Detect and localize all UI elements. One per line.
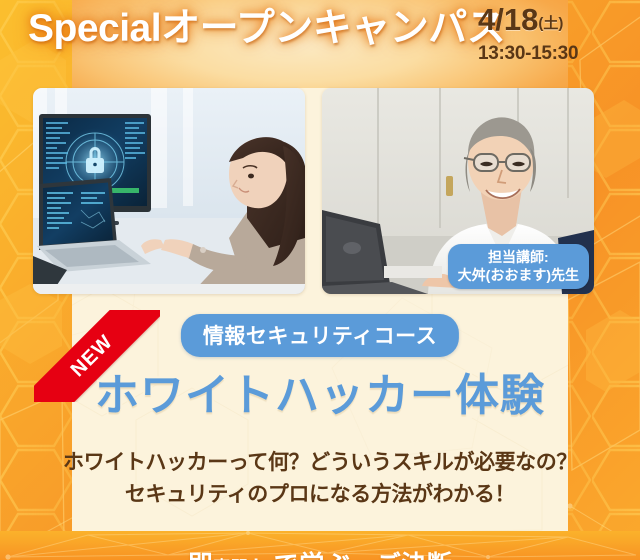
bottom-band: 即専門」で学ぶ、ご決断 xyxy=(0,531,640,560)
photo-student-security xyxy=(33,88,305,294)
body-section: NEW 情報セキュリティコース ホワイトハッカー体験 ホワイトハッカーって何？ど… xyxy=(0,300,640,531)
course-badge: 情報セキュリティコース xyxy=(181,314,459,357)
event-day-of-week: (土) xyxy=(538,15,563,32)
main-title: ホワイトハッカー体験 xyxy=(0,368,640,424)
poster: Specialオープンキャンパス 4/18(土) 13:30-15:30 xyxy=(0,0,640,560)
page-title: Specialオープンキャンパス xyxy=(28,4,480,54)
photo-row: 担当講師: 大舛(おおます)先生 xyxy=(0,88,640,300)
event-date-value: 4/18 xyxy=(478,2,538,37)
bottom-band-text: 即専門」で学ぶ、ご決断 xyxy=(0,545,640,560)
subtitle-line-2: セキュリティのプロになる方法がわかる！ xyxy=(0,478,640,508)
instructor-tag-label: 担当講師: xyxy=(458,248,579,266)
subtitle-line-1: ホワイトハッカーって何？どういうスキルが必要なの？ xyxy=(0,446,640,476)
photo-instructor: 担当講師: 大舛(おおます)先生 xyxy=(322,88,594,294)
bottom-text-main: 」で学ぶ、ご決断 xyxy=(248,551,452,560)
header-date-block: 4/18(土) 13:30-15:30 xyxy=(478,2,630,66)
event-date: 4/18(土) xyxy=(478,2,630,42)
header: Specialオープンキャンパス 4/18(土) 13:30-15:30 xyxy=(0,0,640,88)
event-time: 13:30-15:30 xyxy=(478,42,630,66)
instructor-tag: 担当講師: 大舛(おおます)先生 xyxy=(448,244,589,289)
instructor-tag-name: 大舛(おおます)先生 xyxy=(458,266,579,284)
photo-student-security-image xyxy=(33,88,305,294)
bottom-text-prefix: 即 xyxy=(188,551,214,560)
